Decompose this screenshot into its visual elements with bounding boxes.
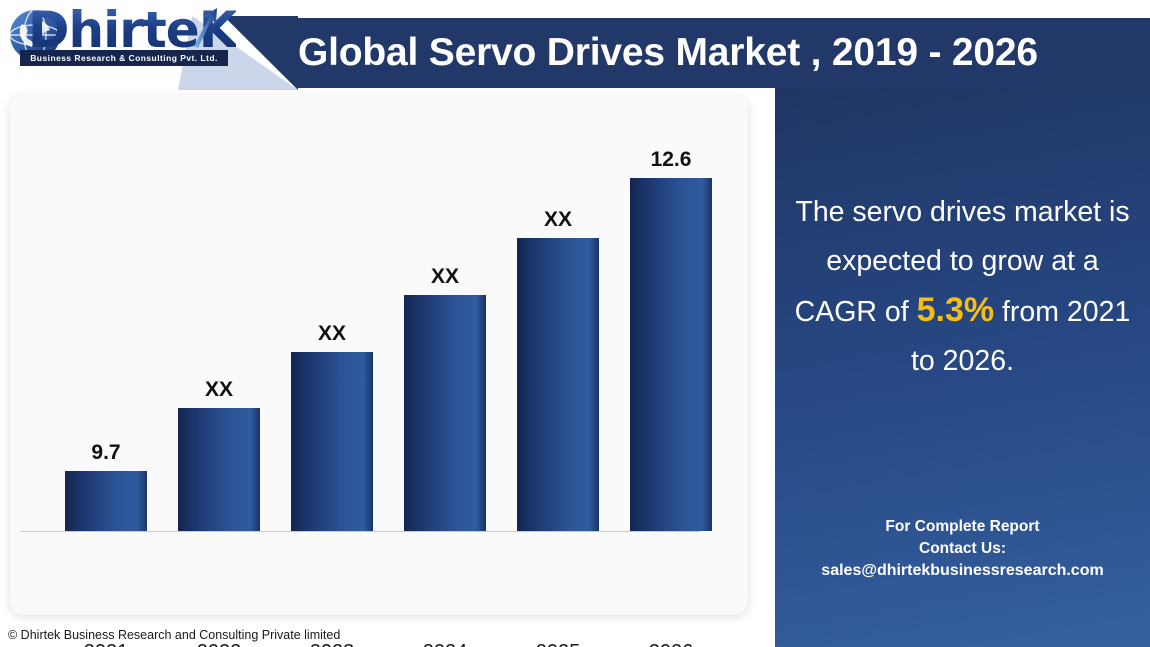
side-panel: The servo drives market is expected to g… (775, 88, 1150, 647)
bar-group-2025: XX (517, 238, 599, 531)
x-axis-line (20, 531, 700, 532)
contact-heading-line2: Contact Us: (779, 538, 1146, 560)
bar-value-label-2024: XX (404, 265, 486, 289)
bar-2025[interactable] (517, 238, 599, 531)
bar-group-2024: XX (404, 295, 486, 531)
growth-arrow-icon (190, 6, 220, 50)
copyright-footer: © Dhirtek Business Research and Consulti… (8, 628, 340, 642)
x-tick-2024: 2024 (404, 641, 486, 647)
chart-card: 9.7XXXXXXXX12.6 202120222023202420252026… (10, 95, 748, 615)
bar-group-2023: XX (291, 352, 373, 531)
bar-group-2021: 9.7 (65, 471, 147, 531)
bar-group-2022: XX (178, 408, 260, 531)
bar-2021[interactable] (65, 471, 147, 531)
bar-value-label-2022: XX (178, 378, 260, 402)
bar-2024[interactable] (404, 295, 486, 531)
contact-email-link[interactable]: sales@dhirtekbusinessresearch.com (779, 560, 1146, 582)
bar-group-2026: 12.6 (630, 178, 712, 531)
company-logo[interactable]: DhirteK Business Research & Consulting P… (6, 2, 232, 70)
bar-2023[interactable] (291, 352, 373, 531)
contact-heading-line1: For Complete Report (779, 516, 1146, 538)
bar-chart-plot (40, 113, 720, 533)
bar-2026[interactable] (630, 178, 712, 531)
infographic-root: DhirteK Business Research & Consulting P… (0, 0, 1150, 647)
bar-2022[interactable] (178, 408, 260, 531)
bar-value-label-2021: 9.7 (65, 441, 147, 465)
bar-value-label-2023: XX (291, 322, 373, 346)
page-title: Global Servo Drives Market , 2019 - 2026 (298, 24, 1138, 84)
cagr-value: 5.3% (917, 291, 995, 329)
bar-value-label-2025: XX (517, 208, 599, 232)
x-tick-2025: 2025 (517, 641, 599, 647)
bar-value-label-2026: 12.6 (630, 148, 712, 172)
x-tick-2026: 2026 (630, 641, 712, 647)
logo-tagline: Business Research & Consulting Pvt. Ltd. (20, 50, 228, 66)
contact-block: For Complete Report Contact Us: sales@dh… (779, 516, 1146, 582)
market-statement: The servo drives market is expected to g… (789, 188, 1136, 386)
